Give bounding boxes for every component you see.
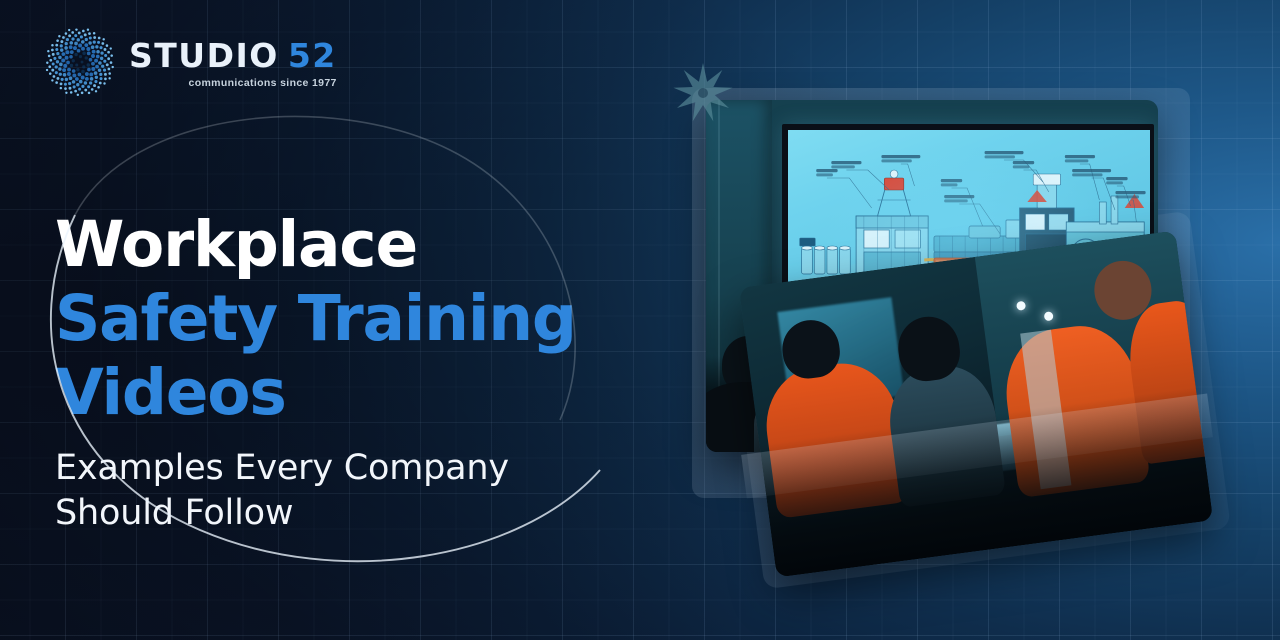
brand-logo[interactable]: STUDIO 52 communications since 1977 (44, 26, 337, 98)
brand-name-primary: STUDIO (129, 39, 279, 72)
headline-line-1: Workplace (55, 208, 675, 282)
headline-line-3: Videos (55, 356, 675, 430)
spiral-dot-logo-icon (44, 26, 116, 98)
sparkle-star-icon (672, 62, 734, 124)
marketing-banner: STUDIO 52 communications since 1977 Work… (0, 0, 1280, 640)
headline-line-2: Safety Training (55, 282, 675, 356)
brand-name-accent: 52 (288, 39, 337, 72)
subheadline-line-1: Examples Every Company (55, 446, 675, 491)
headline-block: Workplace Safety Training Videos Example… (55, 208, 675, 536)
brand-wordmark: STUDIO 52 communications since 1977 (129, 35, 337, 89)
secondary-photo (739, 231, 1213, 578)
brand-tagline: communications since 1977 (129, 77, 337, 89)
ceiling-light-1 (1016, 300, 1026, 310)
subheadline-line-2: Should Follow (55, 491, 675, 536)
